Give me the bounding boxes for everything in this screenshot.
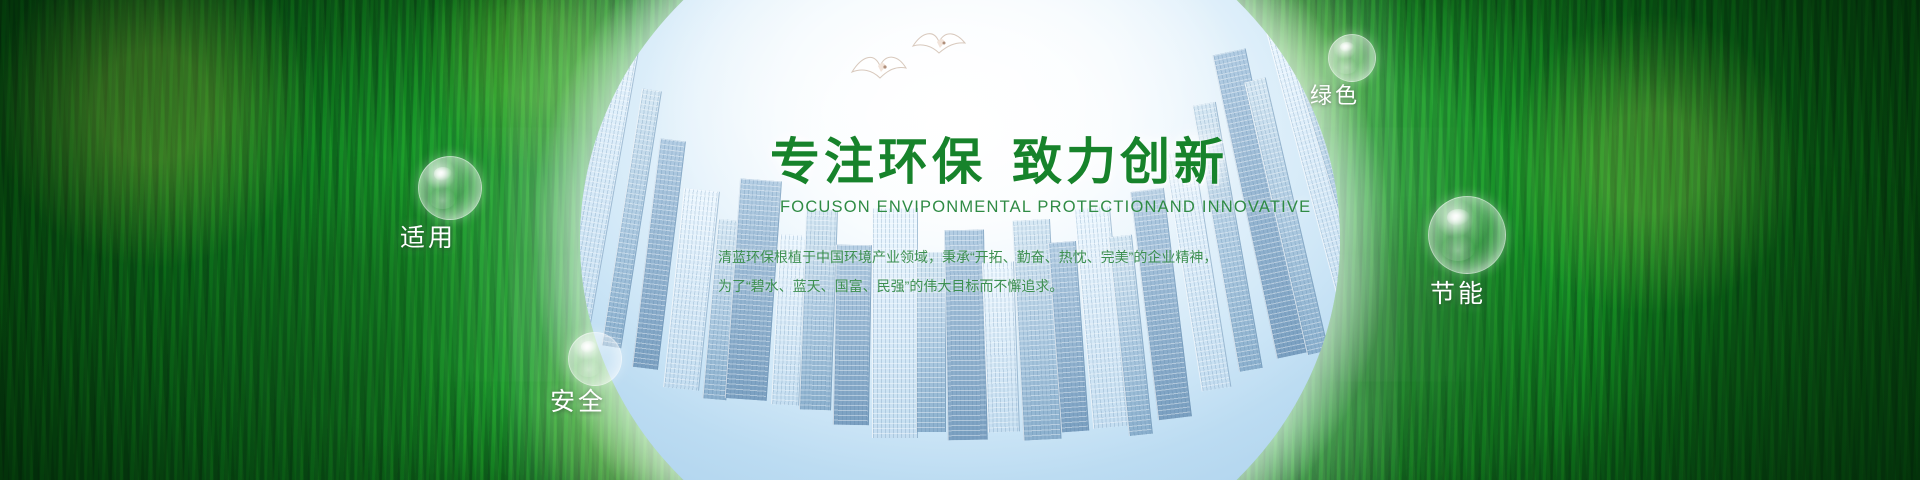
feature-label-jieneng: 节能 [1430,274,1486,310]
description-line-1: 清蓝环保根植于中国环境产业领域，秉承“开拓、勤奋、热忱、完美”的企业精神， [718,243,1258,272]
description-line-2: 为了“碧水、蓝天、国富、民强”的伟大目标而不懈追求。 [718,272,1258,301]
feature-label-shiyong: 适用 [400,218,456,254]
headline-part-1: 专注环保 [770,134,986,190]
feature-item-anquan: 安全 [556,332,622,386]
bird-icon-right [910,26,968,64]
bubble-icon [568,332,622,386]
feature-label-anquan: 安全 [550,382,606,418]
feature-item-lvse: 绿色 [1318,34,1376,82]
eco-hero-banner: 专注环保致力创新 FOCUSON ENVIPONMENTAL PROTECTIO… [0,0,1920,480]
headline-part-2: 致力创新 [1012,134,1228,190]
bubble-icon [418,156,482,220]
subtitle-english: FOCUSON ENVIPONMENTAL PROTECTIONAND INNO… [780,198,1311,217]
feature-item-shiyong: 适用 [404,156,482,220]
headline: 专注环保致力创新 [770,122,1228,194]
feature-label-lvse: 绿色 [1310,78,1360,110]
city-skyline [580,0,1340,480]
bird-icon-left [848,48,910,88]
description-paragraph: 清蓝环保根植于中国环境产业领域，秉承“开拓、勤奋、热忱、完美”的企业精神， 为了… [718,243,1258,301]
bubble-icon [1428,196,1506,274]
sky-city-portal [580,0,1340,480]
bubble-icon [1328,34,1376,82]
feature-item-jieneng: 节能 [1416,196,1506,274]
